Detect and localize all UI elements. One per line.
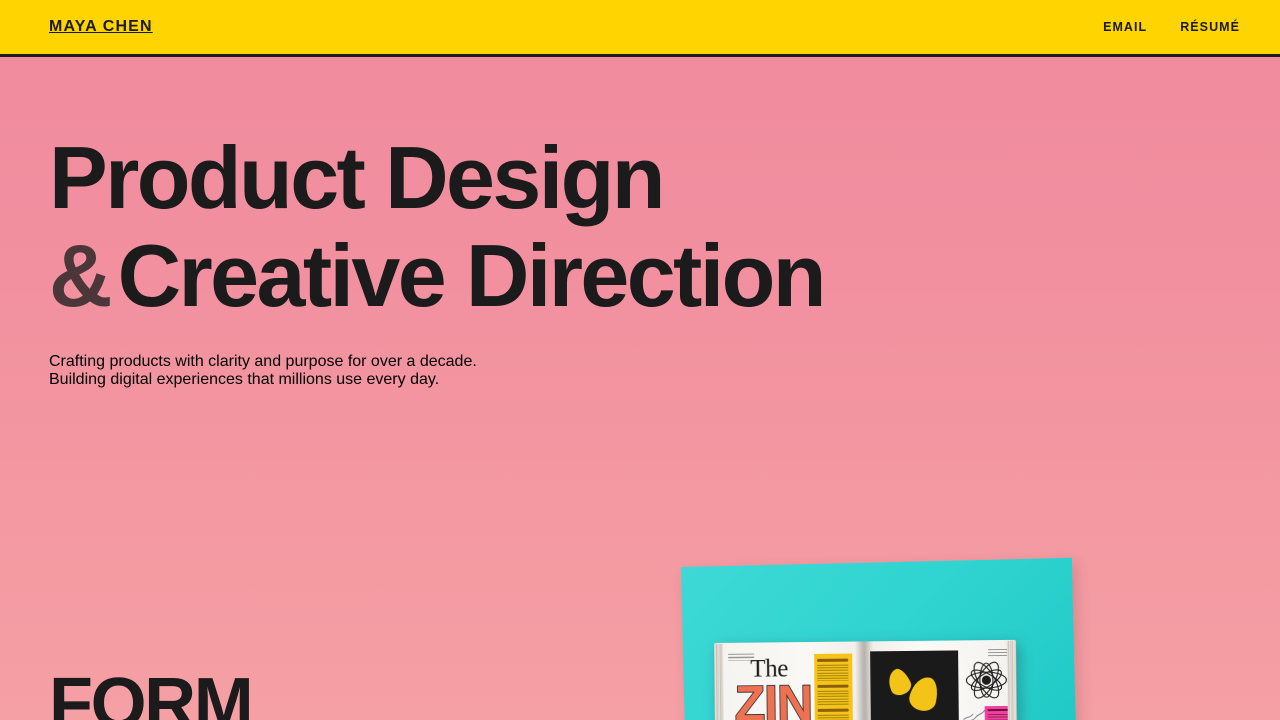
section-heading-form: FORM <box>49 668 251 720</box>
hero-title-line-2: &Creative Direction <box>49 227 1280 325</box>
hero-photo-block: The ZIN <box>650 545 1120 720</box>
magazine-right-page-edges <box>1007 641 1017 720</box>
hero-title-line-1: Product Design <box>49 129 1280 227</box>
nav-link-email[interactable]: EMAIL <box>1103 21 1147 34</box>
sticky-note-title-bar <box>988 709 1010 712</box>
atom-diagram-icon <box>964 658 1008 702</box>
magazine-right-page-meta-lines <box>988 649 1008 656</box>
sidebar-heading-bar-2 <box>817 685 848 688</box>
hero-title-line-2-text: Creative Direction <box>118 226 824 325</box>
sidebar-heading-bar-3 <box>818 709 849 712</box>
magazine-left-page: The ZIN <box>714 641 865 720</box>
page-title: Product Design &Creative Direction <box>49 129 1280 325</box>
sidebar-text-block-1 <box>817 665 848 681</box>
sidebar-text-block-3 <box>818 715 849 720</box>
handwriting-scribble-icon <box>961 706 987 720</box>
site-logo[interactable]: MAYA CHEN <box>49 19 153 35</box>
magazine-masthead-title: ZIN <box>734 678 812 720</box>
magazine-black-illustration-panel <box>870 650 959 720</box>
nav-link-resume[interactable]: RÉSUMÉ <box>1180 21 1240 34</box>
magazine-spread-photo: The ZIN <box>714 640 1017 720</box>
pear-shape-large-icon <box>907 674 941 713</box>
hero-ampersand: & <box>49 226 118 325</box>
hero-subtitle-line-1: Crafting products with clarity and purpo… <box>49 353 1280 371</box>
sidebar-text-block-2 <box>818 691 849 705</box>
sidebar-heading-bar <box>817 659 848 662</box>
magazine-left-page-edges <box>714 644 724 720</box>
magazine-right-page <box>864 640 1017 720</box>
hero-section: Product Design &Creative Direction Craft… <box>0 57 1280 389</box>
page-root: MAYA CHEN EMAIL RÉSUMÉ Product Design &C… <box>0 0 1280 720</box>
top-navigation-bar: MAYA CHEN EMAIL RÉSUMÉ <box>0 0 1280 57</box>
primary-nav-links: EMAIL RÉSUMÉ <box>1103 21 1240 34</box>
hero-subtitle-line-2: Building digital experiences that millio… <box>49 371 1280 389</box>
magazine-yellow-sidebar <box>814 654 853 720</box>
